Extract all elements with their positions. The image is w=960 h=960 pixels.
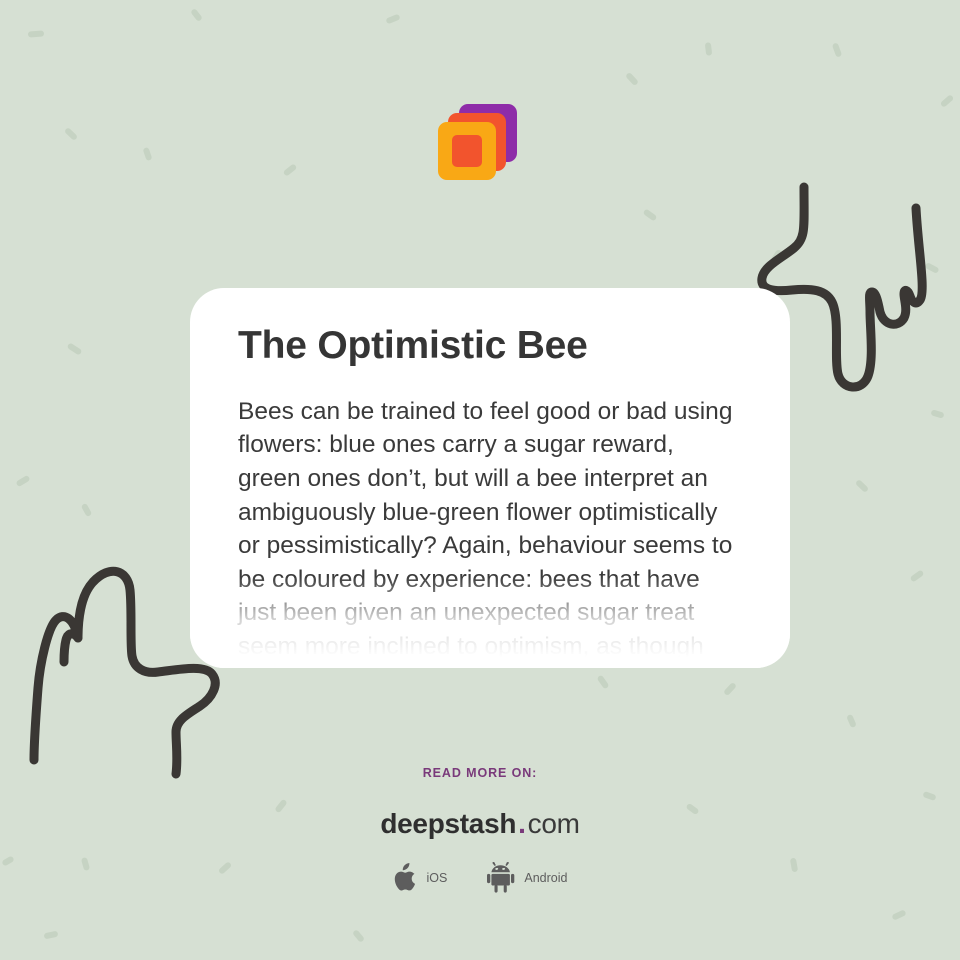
speck — [15, 475, 30, 487]
speck — [705, 42, 713, 56]
android-icon — [487, 862, 515, 893]
android-store-badge[interactable]: Android — [487, 862, 567, 893]
app-store-badges: iOS Android — [0, 862, 960, 893]
speck — [44, 931, 59, 940]
ios-label: iOS — [427, 871, 448, 885]
footer: READ MORE ON: deepstash.com iOS — [0, 766, 960, 893]
deepstash-logo — [425, 100, 521, 196]
speck — [64, 127, 78, 141]
idea-card: The Optimistic Bee Bees can be trained t… — [190, 288, 790, 668]
speck — [352, 929, 365, 943]
speck — [832, 42, 842, 57]
speck — [385, 14, 400, 25]
apple-icon — [393, 863, 418, 893]
ios-store-badge[interactable]: iOS — [393, 863, 448, 893]
poster-canvas: The Optimistic Bee Bees can be trained t… — [0, 0, 960, 960]
read-more-label: READ MORE ON: — [0, 766, 960, 780]
speck — [770, 249, 782, 263]
wordmark-tld: com — [528, 808, 580, 839]
speck — [924, 262, 939, 274]
speck — [67, 342, 83, 355]
speck — [910, 569, 925, 582]
speck — [190, 8, 203, 22]
card-body-text: Bees can be trained to feel good or bad … — [238, 395, 742, 668]
logo-middle-square — [448, 113, 506, 171]
android-label: Android — [524, 871, 567, 885]
speck — [28, 30, 44, 37]
speck — [891, 909, 906, 920]
speck — [81, 503, 93, 517]
speck — [643, 208, 658, 221]
speck — [283, 163, 298, 176]
card-title: The Optimistic Bee — [238, 324, 742, 369]
wordmark-dot: . — [516, 808, 527, 839]
speck — [940, 94, 955, 108]
speck — [723, 682, 737, 696]
deepstash-wordmark[interactable]: deepstash.com — [0, 808, 960, 840]
speck — [625, 72, 639, 86]
speck — [143, 147, 153, 161]
speck — [930, 409, 944, 419]
speck — [855, 479, 869, 493]
speck — [846, 714, 857, 728]
speck — [597, 675, 610, 690]
wordmark-name: deepstash — [380, 808, 516, 839]
